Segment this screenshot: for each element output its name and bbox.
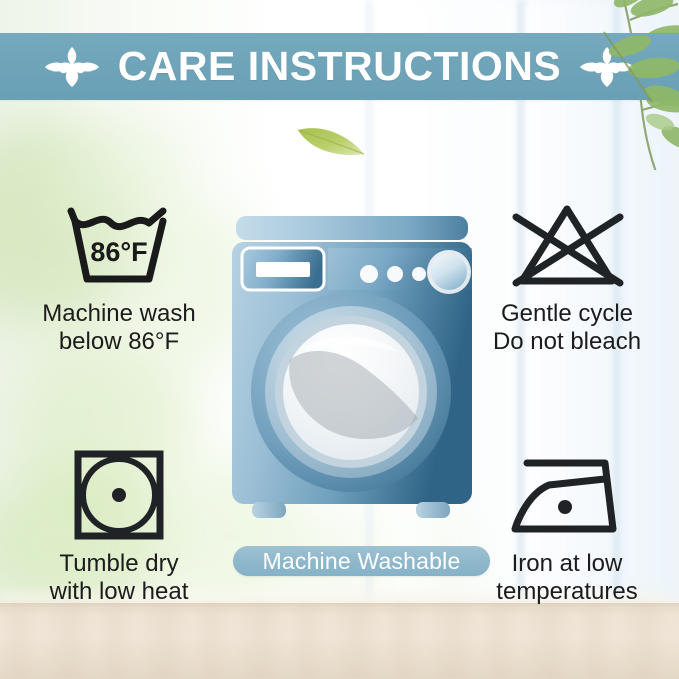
tumble-dry-icon: [69, 445, 169, 545]
wash-temperature-value: 86°F: [90, 237, 147, 267]
care-symbol-label: Machine wash below 86°F: [14, 300, 224, 357]
care-symbol-iron: Iron at low temperatures: [462, 440, 672, 607]
crossed-triangle-icon-wrap: [462, 190, 672, 300]
indicator-dot: [387, 266, 403, 282]
tumble-dry-icon-wrap: [14, 440, 224, 550]
crossed-triangle-icon: [502, 195, 632, 295]
washer-foot-right: [416, 502, 450, 518]
wash-tub-icon: 86°F: [57, 195, 181, 295]
floating-leaf-icon: [294, 118, 370, 162]
indicator-dot: [360, 265, 378, 283]
care-symbol-label: Iron at low temperatures: [462, 550, 672, 607]
wash-tub-icon-wrap: 86°F: [14, 190, 224, 300]
care-symbol-label: Gentle cycle Do not bleach: [462, 300, 672, 357]
wood-grain-texture: [0, 603, 679, 679]
plant-leaves-over-banner: [596, 28, 679, 108]
indicator-dot: [412, 267, 426, 281]
iron-icon-wrap: [462, 440, 672, 550]
care-symbol-do-not-bleach: Gentle cycle Do not bleach: [462, 190, 672, 357]
washer-top-lid: [236, 216, 468, 240]
header-banner: CARE INSTRUCTIONS: [0, 33, 679, 100]
badge-label: Machine Washable: [263, 550, 461, 573]
washer-foot-left: [252, 502, 286, 518]
care-instructions-infographic: CARE INSTRUCTIONS: [0, 0, 679, 679]
machine-washable-badge: Machine Washable: [233, 546, 490, 576]
fleur-de-lis-icon-left: [44, 43, 100, 91]
drawer-slot: [256, 262, 310, 277]
care-symbol-machine-wash: 86°F Machine wash below 86°F: [14, 190, 224, 357]
care-symbol-label: Tumble dry with low heat: [14, 550, 224, 607]
iron-icon: [505, 449, 629, 541]
control-knob: [431, 254, 467, 290]
page-title: CARE INSTRUCTIONS: [118, 46, 562, 87]
washing-machine-illustration: [226, 210, 476, 540]
care-symbol-tumble-dry: Tumble dry with low heat: [14, 440, 224, 607]
